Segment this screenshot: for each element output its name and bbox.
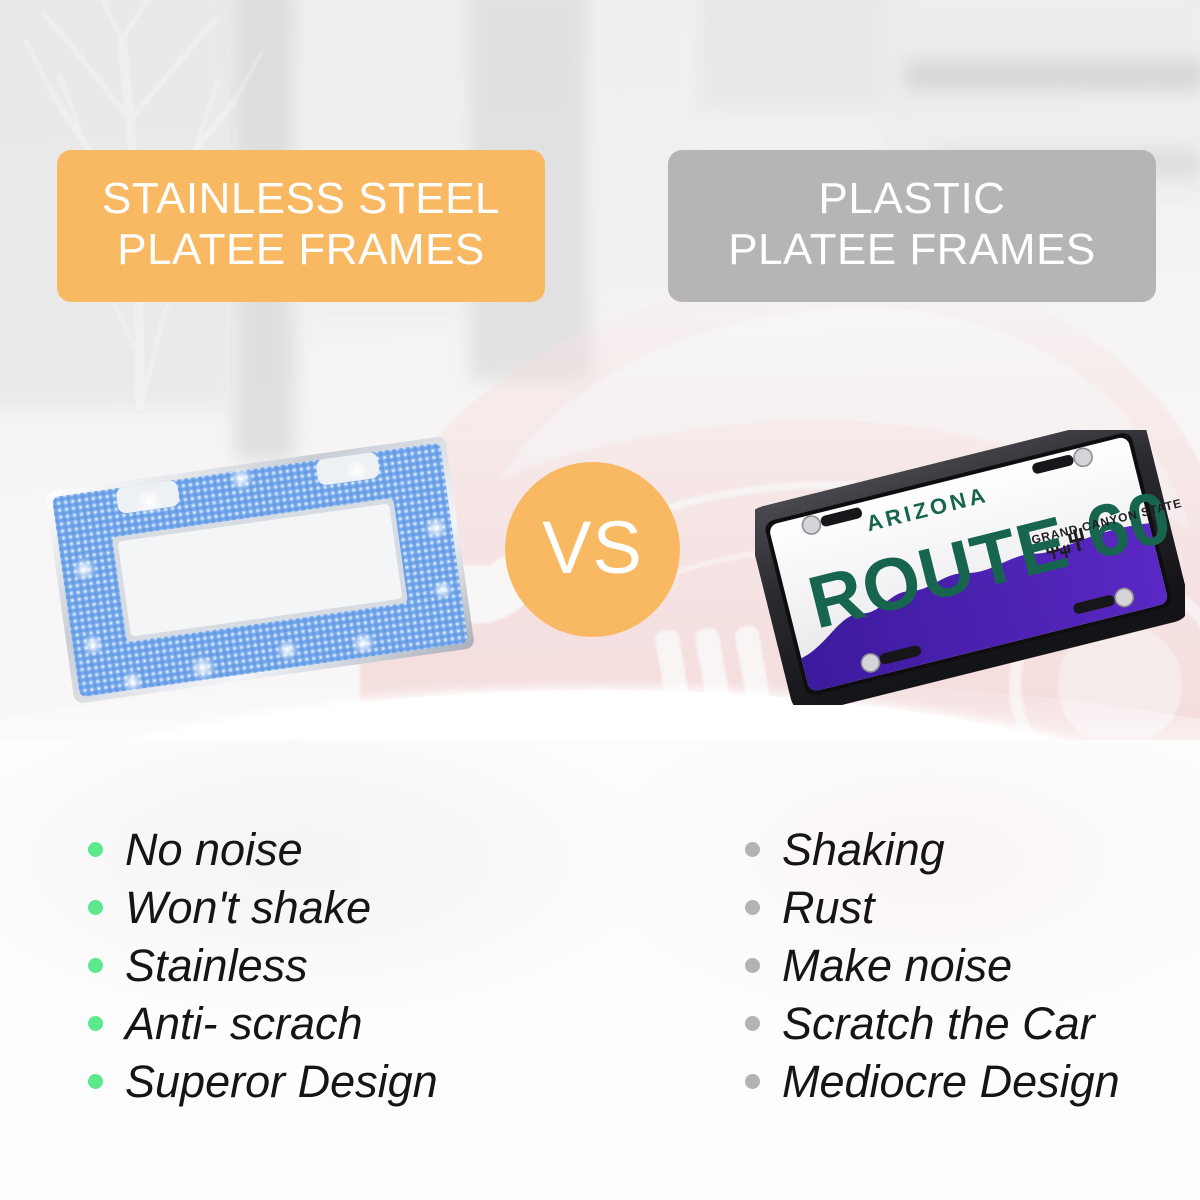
feature-label: Mediocre Design (782, 1059, 1120, 1104)
banner-plastic: PLASTIC PLATEE FRAMES (668, 150, 1156, 302)
bullet-icon (745, 842, 760, 857)
feature-label: No noise (125, 827, 303, 872)
feature-label: Make noise (782, 943, 1012, 988)
list-item: Superor Design (88, 1052, 608, 1110)
bullet-icon (745, 1016, 760, 1031)
bullet-icon (88, 1074, 103, 1089)
list-item: Anti- scrach (88, 994, 608, 1052)
list-item: Shaking (745, 820, 1200, 878)
feature-list-stainless: No noise Won't shake Stainless Anti- scr… (88, 820, 608, 1110)
bullet-icon (88, 958, 103, 973)
list-item: No noise (88, 820, 608, 878)
feature-label: Shaking (782, 827, 945, 872)
list-item: Make noise (745, 936, 1200, 994)
list-item: Rust (745, 878, 1200, 936)
list-item: Won't shake (88, 878, 608, 936)
background-panel (700, 0, 900, 110)
feature-label: Anti- scrach (125, 1001, 363, 1046)
versus-label: VS (542, 511, 643, 589)
feature-label: Won't shake (125, 885, 371, 930)
product-image-stainless-frame (40, 425, 480, 715)
bullet-icon (745, 900, 760, 915)
feature-label: Scratch the Car (782, 1001, 1095, 1046)
product-image-plastic-frame: ARIZONA ROUTE 60 GRAND CANYON STATE (755, 430, 1185, 705)
feature-list-plastic: Shaking Rust Make noise Scratch the Car … (745, 820, 1200, 1110)
banner-stainless-steel: STAINLESS STEEL PLATEE FRAMES (57, 150, 545, 302)
bullet-icon (88, 1016, 103, 1031)
versus-badge: VS (505, 462, 680, 637)
banner-left-label: STAINLESS STEEL PLATEE FRAMES (102, 173, 500, 275)
bullet-icon (745, 958, 760, 973)
bullet-icon (88, 842, 103, 857)
list-item: Mediocre Design (745, 1052, 1200, 1110)
list-item: Stainless (88, 936, 608, 994)
list-item: Scratch the Car (745, 994, 1200, 1052)
bullet-icon (88, 900, 103, 915)
background-panel (905, 60, 1200, 90)
bullet-icon (745, 1074, 760, 1089)
feature-label: Superor Design (125, 1059, 438, 1104)
feature-label: Rust (782, 885, 875, 930)
feature-label: Stainless (125, 943, 308, 988)
comparison-infographic: STAINLESS STEEL PLATEE FRAMES PLASTIC PL… (0, 0, 1200, 1200)
banner-right-label: PLASTIC PLATEE FRAMES (728, 173, 1096, 275)
